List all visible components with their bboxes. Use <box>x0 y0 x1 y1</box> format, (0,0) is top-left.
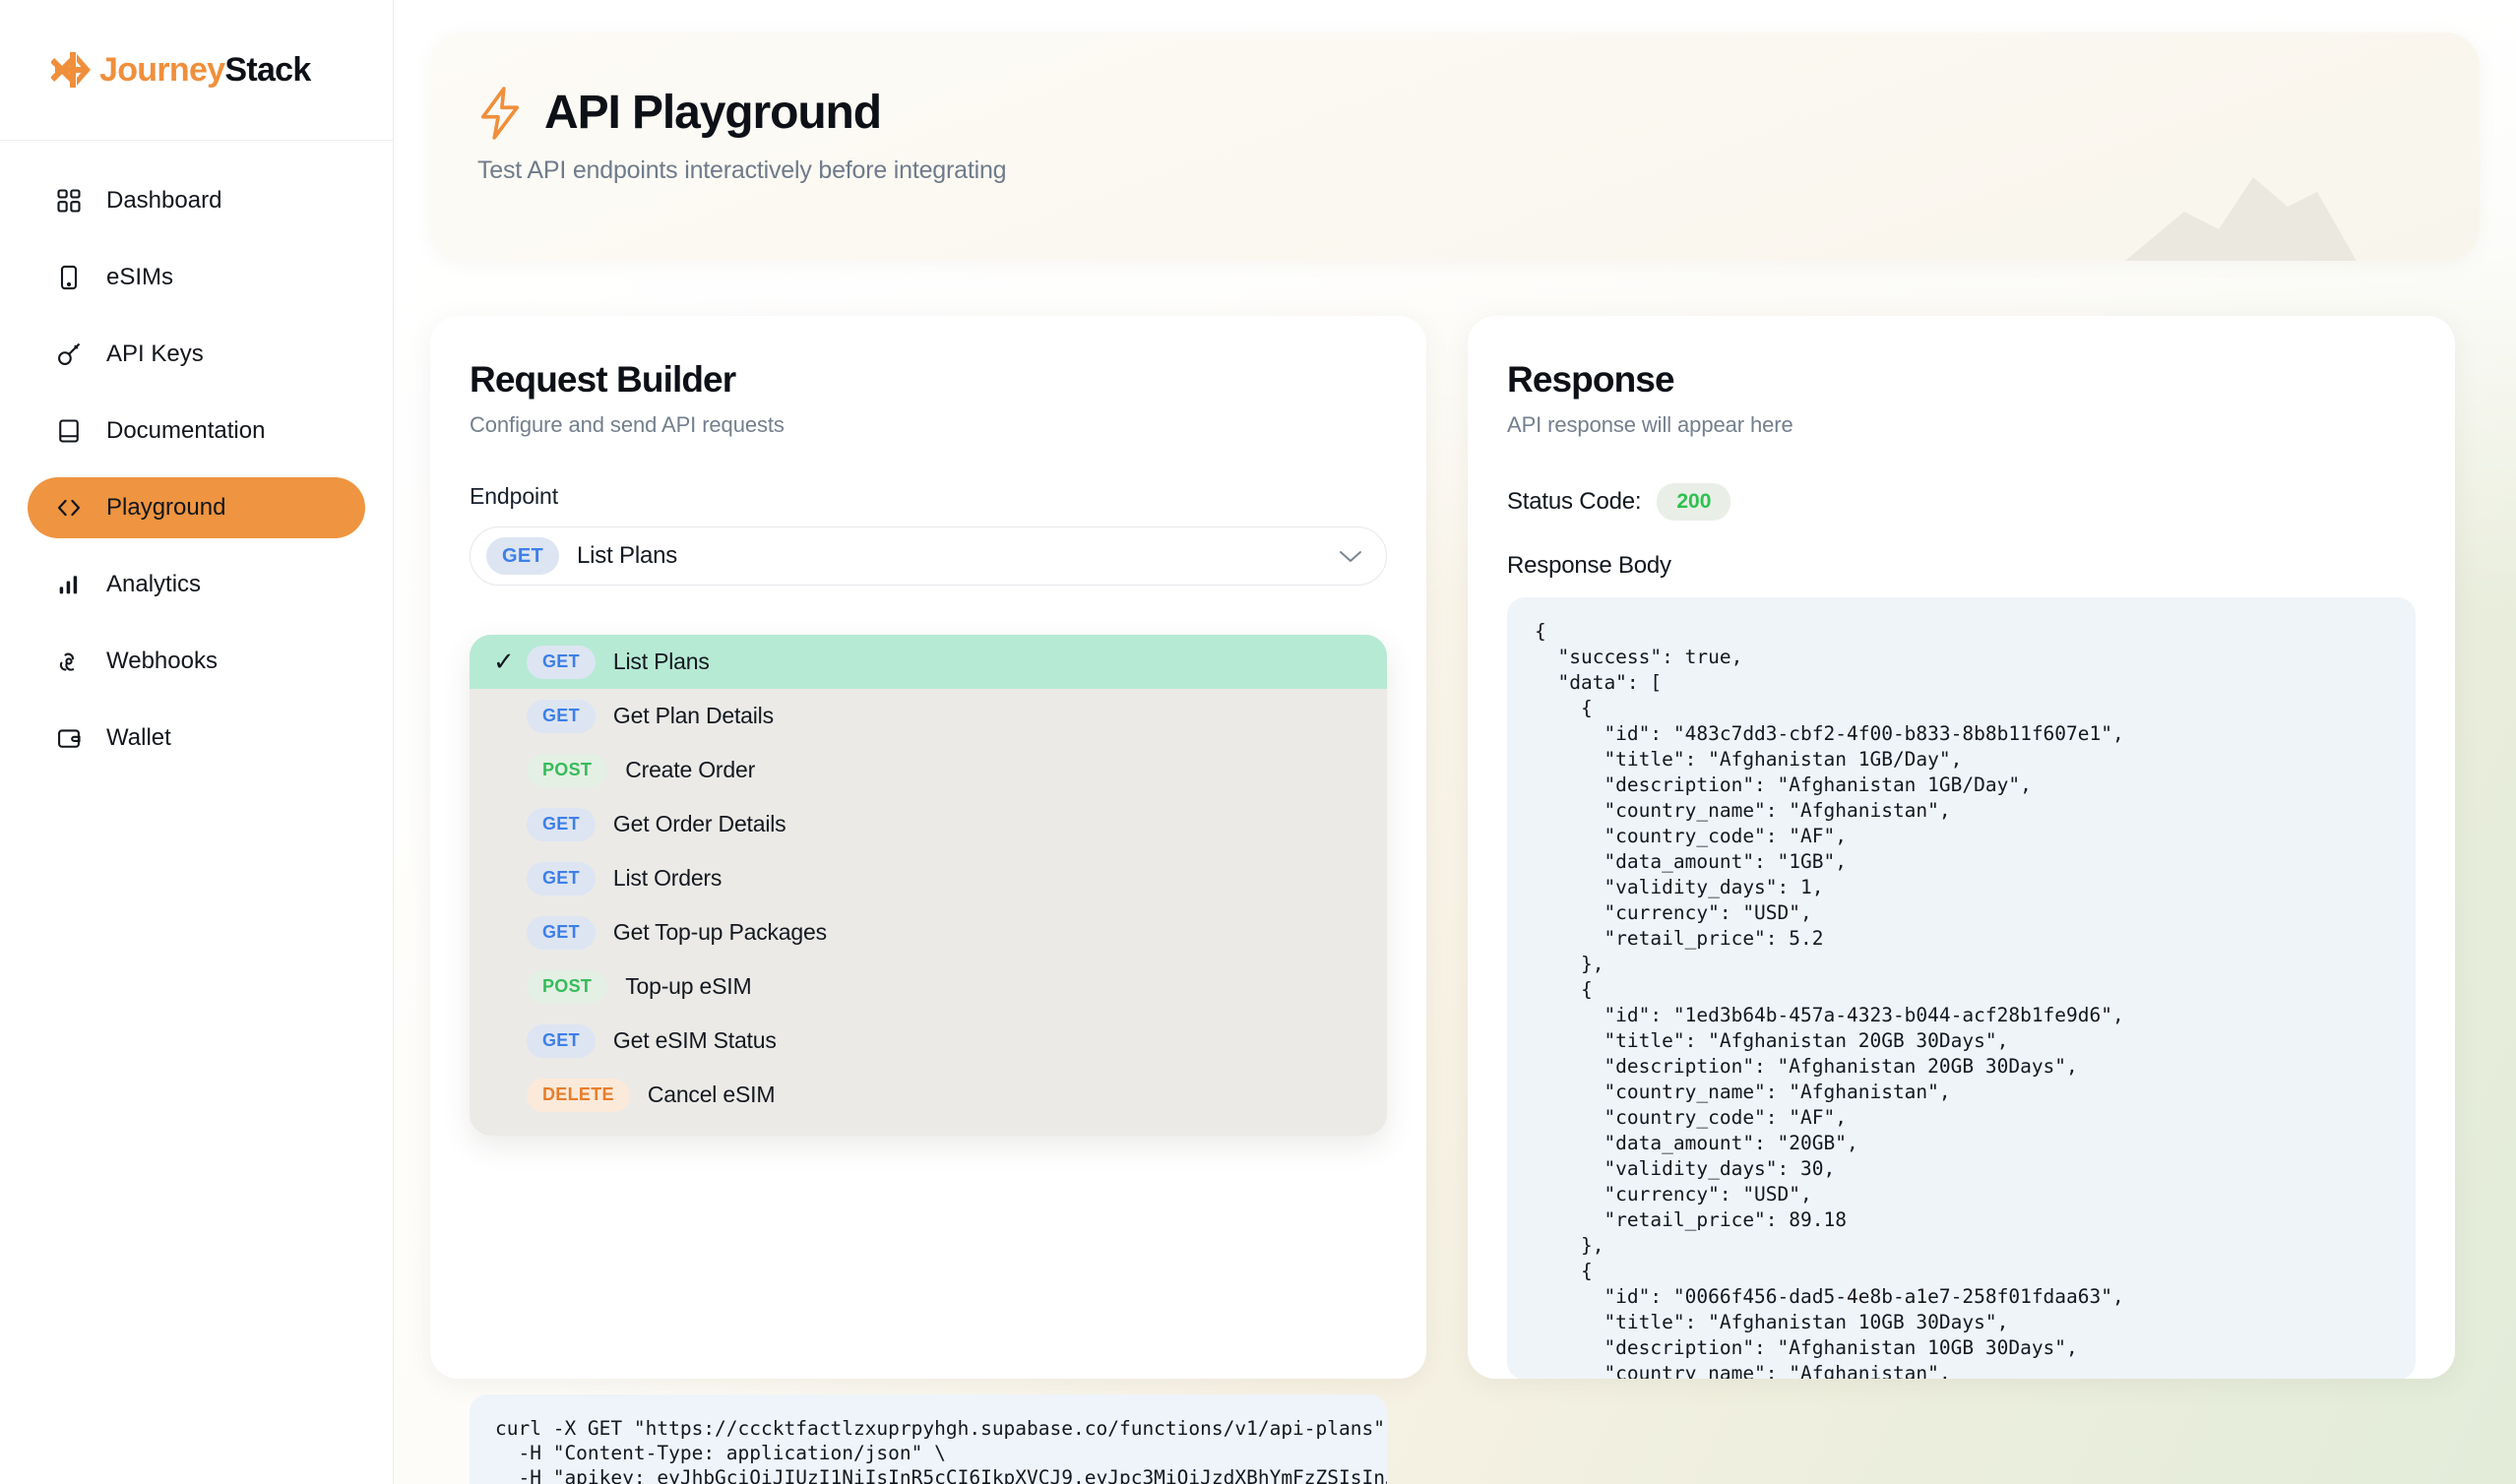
grid-icon <box>53 185 85 216</box>
sidebar-item-label: Webhooks <box>106 648 218 675</box>
option-label: Get Order Details <box>613 811 786 837</box>
starburst-arrow-icon <box>51 48 94 92</box>
sidebar-item-label: Analytics <box>106 571 201 598</box>
option-method-badge: GET <box>527 808 596 841</box>
endpoint-method-badge: GET <box>486 537 559 575</box>
endpoint-select[interactable]: GET List Plans <box>470 526 1387 586</box>
option-method-badge: GET <box>527 916 596 950</box>
option-label: List Orders <box>613 865 722 892</box>
lightning-bolt-icon <box>477 87 523 140</box>
option-label: Top-up eSIM <box>625 973 751 1000</box>
wallet-icon <box>53 722 85 754</box>
sidebar-item-analytics[interactable]: Analytics <box>28 554 365 615</box>
header-decoration-icon <box>2115 153 2371 261</box>
sidebar-item-esims[interactable]: eSIMs <box>28 247 365 308</box>
request-builder-panel: Request Builder Configure and send API r… <box>430 316 1426 1379</box>
dropdown-option[interactable]: ✓ GET List Plans <box>470 635 1387 689</box>
option-method-badge: GET <box>527 1024 596 1058</box>
option-method-badge: POST <box>527 754 607 787</box>
sidebar-nav: Dashboard eSIMs API Keys <box>0 141 393 769</box>
sidebar-item-label: Dashboard <box>106 187 221 215</box>
bar-chart-icon <box>53 569 85 600</box>
response-panel: Response API response will appear here S… <box>1468 316 2455 1379</box>
sidebar-item-api-keys[interactable]: API Keys <box>28 324 365 385</box>
sidebar-item-label: eSIMs <box>106 264 173 291</box>
option-label: Cancel eSIM <box>648 1082 775 1108</box>
response-title: Response <box>1507 359 2416 401</box>
check-icon: ✓ <box>493 647 527 677</box>
status-badge: 200 <box>1657 483 1730 521</box>
option-label: Get Top-up Packages <box>613 919 827 946</box>
endpoint-dropdown-menu[interactable]: ✓ GET List Plans ✓ GET Get Plan Details … <box>470 635 1387 1136</box>
response-body-block[interactable]: { "success": true, "data": [ { "id": "48… <box>1507 597 2416 1379</box>
option-label: Get Plan Details <box>613 703 774 729</box>
response-subtitle: API response will appear here <box>1507 412 2416 438</box>
response-body-label: Response Body <box>1507 552 2416 580</box>
option-label: Get eSIM Status <box>613 1027 777 1054</box>
dropdown-option[interactable]: ✓ GET List Orders <box>470 851 1387 905</box>
brand-name: JourneyStack <box>99 51 311 90</box>
option-label: Create Order <box>625 757 755 783</box>
option-method-badge: DELETE <box>527 1079 630 1112</box>
phone-icon <box>53 262 85 293</box>
endpoint-selected-label: List Plans <box>577 542 677 570</box>
request-builder-subtitle: Configure and send API requests <box>470 412 1387 438</box>
book-icon <box>53 415 85 447</box>
option-method-badge: POST <box>527 970 607 1004</box>
sidebar-item-playground[interactable]: Playground <box>28 477 365 538</box>
sidebar-item-label: Documentation <box>106 417 265 445</box>
curl-command-block: curl -X GET "https://cccktfactlzxuprpyhg… <box>470 1394 1387 1484</box>
status-code-row: Status Code: 200 <box>1507 483 2416 521</box>
chevron-down-icon[interactable] <box>1339 549 1362 563</box>
dropdown-option[interactable]: ✓ DELETE Cancel eSIM <box>470 1068 1387 1122</box>
endpoint-label: Endpoint <box>470 483 1387 510</box>
dropdown-option[interactable]: ✓ POST Create Order <box>470 743 1387 797</box>
option-method-badge: GET <box>527 646 596 679</box>
sidebar-item-wallet[interactable]: Wallet <box>28 708 365 769</box>
key-icon <box>53 339 85 370</box>
option-method-badge: GET <box>527 862 596 896</box>
request-builder-title: Request Builder <box>470 359 1387 401</box>
dropdown-option[interactable]: ✓ GET Get Order Details <box>470 797 1387 851</box>
dropdown-option[interactable]: ✓ GET Get Top-up Packages <box>470 905 1387 959</box>
brand-name-second: Stack <box>224 51 310 89</box>
code-icon <box>53 492 85 524</box>
sidebar-item-dashboard[interactable]: Dashboard <box>28 170 365 231</box>
sidebar-item-label: Playground <box>106 494 225 522</box>
main-content: API Playground Test API endpoints intera… <box>394 0 2516 1484</box>
webhook-icon <box>53 646 85 677</box>
page-header-card: API Playground Test API endpoints intera… <box>430 32 2480 261</box>
page-title: API Playground <box>544 86 881 140</box>
sidebar-item-label: Wallet <box>106 724 171 752</box>
option-method-badge: GET <box>527 700 596 733</box>
brand-name-first: Journey <box>99 51 224 89</box>
sidebar: JourneyStack Dashboard eSIMs <box>0 0 394 1484</box>
panels-row: Request Builder Configure and send API r… <box>430 316 2480 1379</box>
status-code-label: Status Code: <box>1507 488 1641 516</box>
brand-logo[interactable]: JourneyStack <box>0 0 393 141</box>
dropdown-option[interactable]: ✓ GET Get Plan Details <box>470 689 1387 743</box>
option-label: List Plans <box>613 649 710 675</box>
sidebar-item-webhooks[interactable]: Webhooks <box>28 631 365 692</box>
dropdown-option[interactable]: ✓ POST Top-up eSIM <box>470 959 1387 1014</box>
sidebar-item-label: API Keys <box>106 340 204 368</box>
sidebar-item-documentation[interactable]: Documentation <box>28 401 365 462</box>
dropdown-option[interactable]: ✓ GET Get eSIM Status <box>470 1014 1387 1068</box>
